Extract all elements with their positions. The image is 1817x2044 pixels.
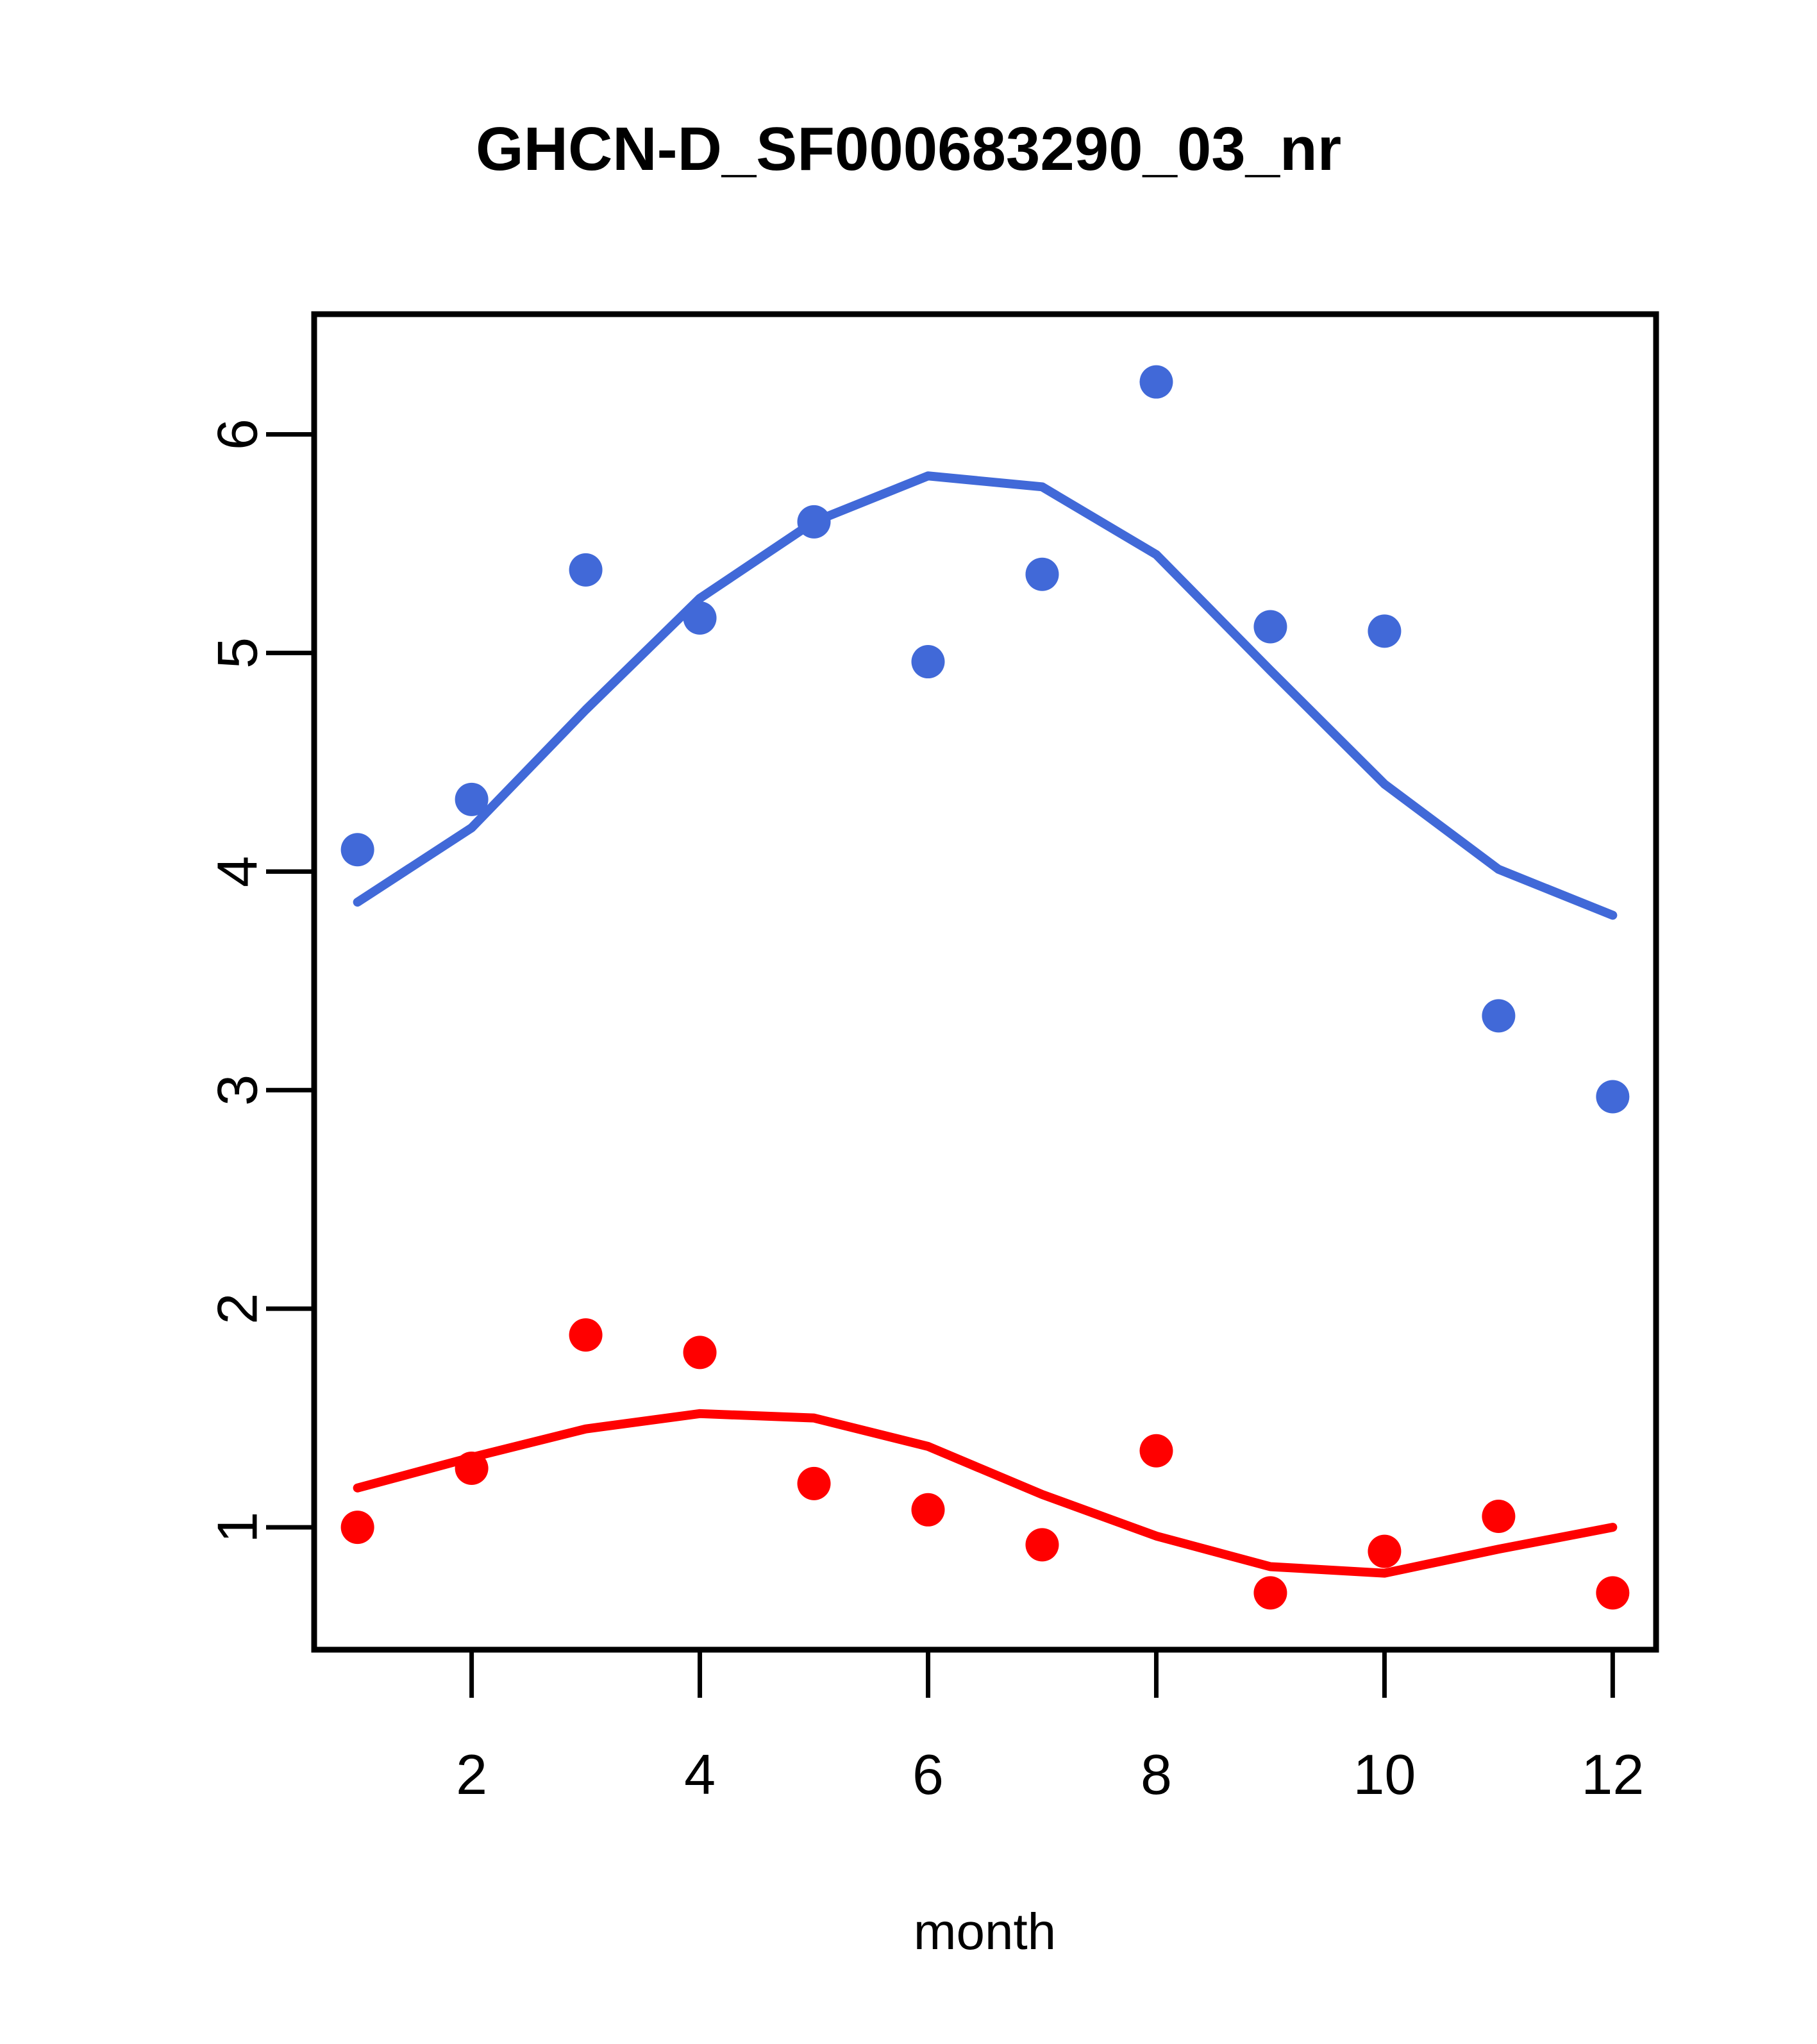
y-tick-label: 6 bbox=[206, 419, 269, 450]
data-point bbox=[1368, 614, 1401, 648]
data-point bbox=[1025, 558, 1059, 591]
data-point bbox=[1482, 999, 1515, 1032]
x-axis: 24681012 bbox=[456, 1650, 1644, 1806]
data-point bbox=[912, 1493, 945, 1527]
x-tick-label: 2 bbox=[456, 1743, 487, 1806]
data-point bbox=[455, 1452, 489, 1485]
data-series-layer bbox=[341, 365, 1630, 1610]
data-point bbox=[683, 601, 717, 635]
data-point bbox=[1139, 1434, 1173, 1468]
chart-title: GHCN-D_SF000683290_03_nr bbox=[476, 115, 1341, 183]
y-tick-label: 1 bbox=[206, 1512, 269, 1543]
x-axis-title: month bbox=[914, 1903, 1056, 1960]
x-tick-label: 8 bbox=[1141, 1743, 1172, 1806]
chart-container: GHCN-D_SF000683290_03_nr 123456 24681012… bbox=[0, 0, 1817, 2044]
data-point bbox=[1368, 1535, 1401, 1568]
data-point bbox=[341, 1511, 374, 1544]
data-point bbox=[569, 1318, 603, 1352]
x-tick-label: 10 bbox=[1353, 1743, 1416, 1806]
data-point bbox=[1253, 1576, 1287, 1609]
data-point bbox=[912, 645, 945, 678]
data-point bbox=[798, 1467, 831, 1500]
x-tick-label: 12 bbox=[1581, 1743, 1644, 1806]
x-tick-label: 6 bbox=[912, 1743, 944, 1806]
data-point bbox=[455, 783, 489, 816]
data-point bbox=[798, 505, 831, 539]
data-point bbox=[1253, 610, 1287, 644]
chart-svg: GHCN-D_SF000683290_03_nr 123456 24681012… bbox=[0, 0, 1817, 2044]
y-tick-label: 3 bbox=[206, 1075, 269, 1106]
data-point bbox=[341, 833, 374, 866]
data-point bbox=[1139, 365, 1173, 399]
x-tick-label: 4 bbox=[684, 1743, 716, 1806]
data-point bbox=[569, 553, 603, 587]
series-line-red-smooth bbox=[358, 1414, 1613, 1573]
y-tick-label: 4 bbox=[206, 856, 269, 887]
series-line-blue-smooth bbox=[358, 476, 1613, 915]
data-point bbox=[1025, 1528, 1059, 1561]
y-tick-label: 5 bbox=[206, 637, 269, 669]
y-tick-label: 2 bbox=[206, 1293, 269, 1325]
y-axis: 123456 bbox=[206, 419, 315, 1543]
data-point bbox=[1596, 1080, 1629, 1113]
data-point bbox=[1596, 1576, 1629, 1609]
data-point bbox=[683, 1336, 717, 1369]
data-point bbox=[1482, 1500, 1515, 1533]
